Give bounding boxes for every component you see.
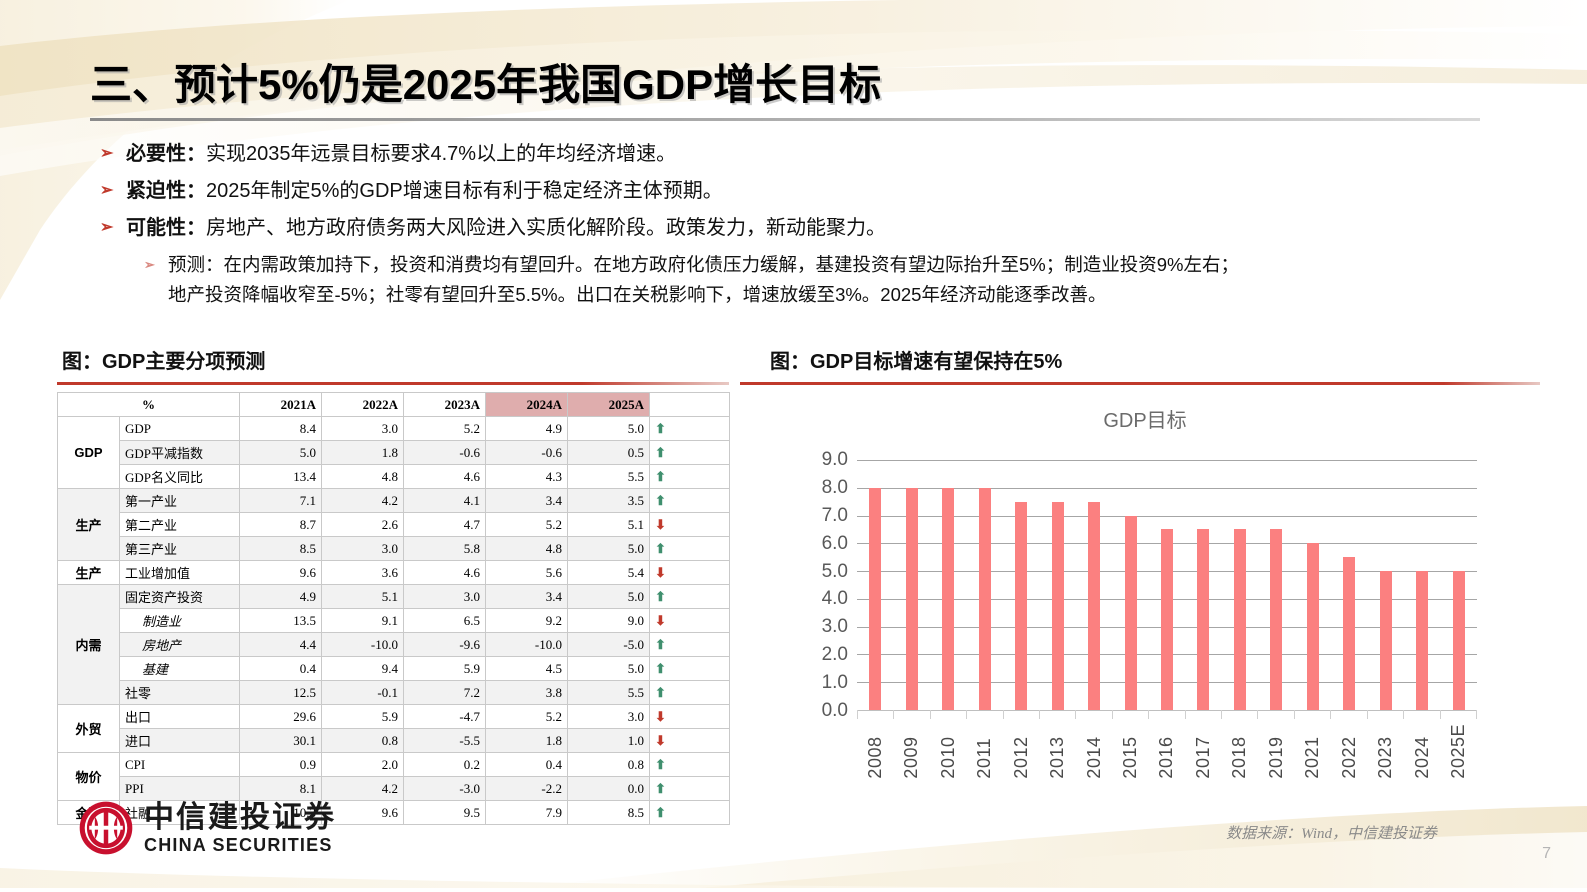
bullet-body: 2025年制定5%的GDP增速目标有利于稳定经济主体预期。 bbox=[206, 180, 723, 202]
chart-x-tick-label: 2010 bbox=[938, 724, 959, 779]
chart-bar-slot bbox=[1331, 460, 1367, 710]
bullet-arrow-icon: ➢ bbox=[100, 140, 126, 168]
chart-x-tick-label: 2013 bbox=[1047, 724, 1068, 779]
chart-bar bbox=[979, 488, 991, 710]
page-number: 7 bbox=[1542, 845, 1551, 863]
table-cell-value: 4.5 bbox=[486, 657, 568, 681]
chart-x-label-slot: 2008 bbox=[857, 724, 893, 779]
table-row-label: 制造业 bbox=[120, 609, 240, 633]
table-cell-value: 12.5 bbox=[240, 681, 322, 705]
table-cell-value: 5.0 bbox=[568, 417, 650, 441]
chart-y-tick-label: 6.0 bbox=[822, 533, 848, 555]
chart-x-label-slot: 2010 bbox=[930, 724, 966, 779]
trend-up-icon: ⬆ bbox=[650, 465, 730, 489]
table-cell-value: 5.1 bbox=[568, 513, 650, 537]
table-cell-value: -5.5 bbox=[404, 729, 486, 753]
chart-bar-slot bbox=[1185, 460, 1221, 710]
table-cell-value: 4.4 bbox=[240, 633, 322, 657]
chart-y-tick-label: 5.0 bbox=[822, 561, 848, 583]
trend-up-icon: ⬆ bbox=[650, 753, 730, 777]
table-header: % 2021A 2022A 2023A 2024A 2025A bbox=[58, 393, 730, 417]
table-group-label: 内需 bbox=[58, 585, 120, 705]
table-cell-value: 0.9 bbox=[240, 753, 322, 777]
table-cell-value: 9.5 bbox=[404, 801, 486, 825]
header-cell-percent: % bbox=[58, 393, 240, 417]
trend-up-icon: ⬆ bbox=[650, 681, 730, 705]
table-cell-value: 5.6 bbox=[486, 561, 568, 585]
chart-x-tick bbox=[1221, 710, 1257, 719]
chart-x-tick bbox=[1003, 710, 1039, 719]
table-cell-value: 5.0 bbox=[240, 441, 322, 465]
trend-down-icon: ⬇ bbox=[650, 513, 730, 537]
table-cell-value: -3.0 bbox=[404, 777, 486, 801]
table-cell-value: 5.2 bbox=[404, 417, 486, 441]
chart-bar bbox=[1161, 529, 1173, 710]
bullet-text: 紧迫性：2025年制定5%的GDP增速目标有利于稳定经济主体预期。 bbox=[126, 177, 723, 205]
table-cell-value: 8.1 bbox=[240, 777, 322, 801]
header-cell-trend bbox=[650, 393, 730, 417]
chart-plot-area: 9.08.07.06.05.04.03.02.01.00.0 bbox=[857, 460, 1477, 710]
table-group-label: 生产 bbox=[58, 561, 120, 585]
table-row-label: GDP bbox=[120, 417, 240, 441]
chart-bar bbox=[1125, 516, 1137, 710]
table-row-label: 第一产业 bbox=[120, 489, 240, 513]
chart-x-tick bbox=[1112, 710, 1148, 719]
table-row-label: 房地产 bbox=[120, 633, 240, 657]
chart-x-tick-label: 2015 bbox=[1120, 724, 1141, 779]
table-cell-value: 4.2 bbox=[322, 489, 404, 513]
table-row-label: 进口 bbox=[120, 729, 240, 753]
chart-x-tick bbox=[893, 710, 929, 719]
chart-x-tick-label: 2019 bbox=[1266, 724, 1287, 779]
table-cell-value: 8.5 bbox=[568, 801, 650, 825]
chart-x-label-slot: 2017 bbox=[1185, 724, 1221, 779]
chart-x-tick-label: 2018 bbox=[1229, 724, 1250, 779]
table-row: GDP名义同比13.44.84.64.35.5⬆ bbox=[58, 465, 730, 489]
header-cell-2022a: 2022A bbox=[322, 393, 404, 417]
trend-up-icon: ⬆ bbox=[650, 537, 730, 561]
table-group-label: GDP bbox=[58, 417, 120, 489]
chart-y-tick-label: 9.0 bbox=[822, 449, 848, 471]
chart-y-tick-label: 7.0 bbox=[822, 505, 848, 527]
table-row: 第二产业8.72.64.75.25.1⬇ bbox=[58, 513, 730, 537]
chart-x-tick bbox=[1294, 710, 1330, 719]
chart-x-label-slot: 2023 bbox=[1368, 724, 1404, 779]
table-row: 进口30.10.8-5.51.81.0⬇ bbox=[58, 729, 730, 753]
table-cell-value: 5.9 bbox=[404, 657, 486, 681]
chart-bar-slot bbox=[1441, 460, 1477, 710]
table-row-label: 第二产业 bbox=[120, 513, 240, 537]
chart-x-tick-label: 2024 bbox=[1412, 724, 1433, 779]
table-row: 内需固定资产投资4.95.13.03.45.0⬆ bbox=[58, 585, 730, 609]
table-cell-value: -0.6 bbox=[486, 441, 568, 465]
table-cell-value: 29.6 bbox=[240, 705, 322, 729]
chart-y-tick-label: 2.0 bbox=[822, 644, 848, 666]
table-row: 社零12.5-0.17.23.85.5⬆ bbox=[58, 681, 730, 705]
chart-x-tick-label: 2008 bbox=[865, 724, 886, 779]
chart-bar bbox=[906, 488, 918, 710]
table-row-label: CPI bbox=[120, 753, 240, 777]
bullet-body: 房地产、地方政府债务两大风险进入实质化解阶段。政策发力，新动能聚力。 bbox=[206, 217, 886, 239]
table-cell-value: 1.8 bbox=[486, 729, 568, 753]
chart-y-tick-label: 0.0 bbox=[822, 700, 848, 722]
source-note: 数据来源：Wind，中信建投证券 bbox=[1226, 822, 1437, 843]
chart-x-tick-label: 2021 bbox=[1302, 724, 1323, 779]
chart-bar-slot bbox=[1076, 460, 1112, 710]
chart-bar bbox=[1015, 502, 1027, 710]
table-cell-value: 0.5 bbox=[568, 441, 650, 465]
chart-x-tick-label: 2025E bbox=[1448, 724, 1469, 779]
table-cell-value: 4.7 bbox=[404, 513, 486, 537]
header-cell-2021a: 2021A bbox=[240, 393, 322, 417]
logo-name-en: CHINA SECURITIES bbox=[144, 836, 336, 854]
table-body: GDPGDP8.43.05.24.95.0⬆GDP平减指数5.01.8-0.6-… bbox=[58, 417, 730, 825]
table-cell-value: 3.0 bbox=[404, 585, 486, 609]
bullet-item: ➢ 可能性：房地产、地方政府债务两大风险进入实质化解阶段。政策发力，新动能聚力。 bbox=[100, 214, 1520, 242]
chart-x-tick-label: 2009 bbox=[901, 724, 922, 779]
table-cell-value: 2.6 bbox=[322, 513, 404, 537]
trend-up-icon: ⬆ bbox=[650, 585, 730, 609]
left-figure-caption: 图：GDP主要分项预测 bbox=[62, 345, 265, 374]
table-cell-value: 9.4 bbox=[322, 657, 404, 681]
table-cell-value: -5.0 bbox=[568, 633, 650, 657]
table-cell-value: 0.8 bbox=[568, 753, 650, 777]
chart-bar bbox=[1197, 529, 1209, 710]
bullet-arrow-icon: ➢ bbox=[100, 177, 126, 205]
table-cell-value: 7.2 bbox=[404, 681, 486, 705]
chart-x-tick bbox=[1148, 710, 1184, 719]
chart-x-label-slot: 2022 bbox=[1331, 724, 1367, 779]
table-cell-value: 6.5 bbox=[404, 609, 486, 633]
table-cell-value: -0.1 bbox=[322, 681, 404, 705]
table-group-label: 外贸 bbox=[58, 705, 120, 753]
table-cell-value: 7.1 bbox=[240, 489, 322, 513]
chart-x-tick-label: 2012 bbox=[1011, 724, 1032, 779]
table-row: 物价CPI0.92.00.20.40.8⬆ bbox=[58, 753, 730, 777]
chart-x-label-slot: 2021 bbox=[1295, 724, 1331, 779]
table-cell-value: 3.5 bbox=[568, 489, 650, 513]
chart-x-tick bbox=[1330, 710, 1366, 719]
right-figure-divider bbox=[740, 382, 1540, 385]
title-block: 三、预计5%仍是2025年我国GDP增长目标 bbox=[90, 62, 1510, 121]
table-cell-value: 0.4 bbox=[486, 753, 568, 777]
trend-up-icon: ⬆ bbox=[650, 777, 730, 801]
chart-bar-slot bbox=[893, 460, 929, 710]
table-row: 基建0.49.45.94.55.0⬆ bbox=[58, 657, 730, 681]
chart-bar bbox=[1270, 529, 1282, 710]
chart-bar-slot bbox=[966, 460, 1002, 710]
table-cell-value: 3.0 bbox=[322, 417, 404, 441]
table-cell-value: 4.9 bbox=[240, 585, 322, 609]
table-cell-value: 5.8 bbox=[404, 537, 486, 561]
chart-x-tick bbox=[1075, 710, 1111, 719]
table-cell-value: 5.2 bbox=[486, 513, 568, 537]
chart-bar bbox=[1088, 502, 1100, 710]
chart-x-tick bbox=[1440, 710, 1477, 719]
table-row: 生产第一产业7.14.24.13.43.5⬆ bbox=[58, 489, 730, 513]
table-group-label: 物价 bbox=[58, 753, 120, 801]
table-cell-value: 3.0 bbox=[322, 537, 404, 561]
table-cell-value: 5.5 bbox=[568, 681, 650, 705]
gdp-forecast-table: % 2021A 2022A 2023A 2024A 2025A GDPGDP8.… bbox=[57, 392, 730, 825]
table-cell-value: 9.6 bbox=[240, 561, 322, 585]
chart-bar-slot bbox=[1295, 460, 1331, 710]
table-row: GDPGDP8.43.05.24.95.0⬆ bbox=[58, 417, 730, 441]
trend-up-icon: ⬆ bbox=[650, 417, 730, 441]
chart-x-tick bbox=[1257, 710, 1293, 719]
sub-bullet-item: ➢ 预测：在内需政策加持下，投资和消费均有望回升。在地方政府化债压力缓解，基建投… bbox=[144, 251, 1520, 279]
table-cell-value: 2.0 bbox=[322, 753, 404, 777]
chart-bar bbox=[1052, 502, 1064, 710]
table-row-label: 第三产业 bbox=[120, 537, 240, 561]
table-cell-value: 5.0 bbox=[568, 585, 650, 609]
trend-up-icon: ⬆ bbox=[650, 657, 730, 681]
bullet-lead: 可能性： bbox=[126, 217, 206, 239]
company-logo: 中信建投证券 CHINA SECURITIES bbox=[78, 800, 336, 856]
table-cell-value: -0.6 bbox=[404, 441, 486, 465]
chart-bar-slot bbox=[1258, 460, 1294, 710]
chart-y-tick-label: 3.0 bbox=[822, 616, 848, 638]
header-cell-2024a: 2024A bbox=[486, 393, 568, 417]
chart-bar-slot bbox=[1003, 460, 1039, 710]
trend-down-icon: ⬇ bbox=[650, 729, 730, 753]
chart-bar bbox=[1380, 571, 1392, 710]
chart-bar-slot bbox=[1149, 460, 1185, 710]
table-row: 外贸出口29.65.9-4.75.23.0⬇ bbox=[58, 705, 730, 729]
chart-x-tick bbox=[1403, 710, 1439, 719]
chart-y-tick-label: 4.0 bbox=[822, 588, 848, 610]
table-cell-value: 3.8 bbox=[486, 681, 568, 705]
chart-bar-slot bbox=[857, 460, 893, 710]
table-cell-value: 5.1 bbox=[322, 585, 404, 609]
table-row: 房地产4.4-10.0-9.6-10.0-5.0⬆ bbox=[58, 633, 730, 657]
table-cell-value: 5.0 bbox=[568, 657, 650, 681]
gdp-target-chart: GDP目标 9.08.07.06.05.04.03.02.01.00.0 200… bbox=[745, 392, 1545, 792]
chart-bar bbox=[942, 488, 954, 710]
table-cell-value: 4.1 bbox=[404, 489, 486, 513]
table-cell-value: -2.2 bbox=[486, 777, 568, 801]
forecast-table-wrapper: % 2021A 2022A 2023A 2024A 2025A GDPGDP8.… bbox=[57, 392, 729, 825]
table-cell-value: -4.7 bbox=[404, 705, 486, 729]
bullet-lead: 必要性： bbox=[126, 143, 206, 165]
table-cell-value: 4.6 bbox=[404, 561, 486, 585]
chart-bar-slot bbox=[930, 460, 966, 710]
trend-up-icon: ⬆ bbox=[650, 489, 730, 513]
chart-x-label-slot: 2018 bbox=[1222, 724, 1258, 779]
chart-x-tick-label: 2014 bbox=[1084, 724, 1105, 779]
chart-bar bbox=[1416, 571, 1428, 710]
table-cell-value: 4.6 bbox=[404, 465, 486, 489]
table-cell-value: 8.5 bbox=[240, 537, 322, 561]
table-row-label: GDP平减指数 bbox=[120, 441, 240, 465]
trend-down-icon: ⬇ bbox=[650, 561, 730, 585]
table-row: GDP平减指数5.01.8-0.6-0.60.5⬆ bbox=[58, 441, 730, 465]
chart-x-tick bbox=[1039, 710, 1075, 719]
left-figure-divider bbox=[57, 382, 729, 385]
sub-bullet-line1: 在内需政策加持下，投资和消费均有望回升。在地方政府化债压力缓解，基建投资有望边际… bbox=[224, 254, 1239, 275]
bullet-text: 必要性：实现2035年远景目标要求4.7%以上的年均经济增速。 bbox=[126, 140, 676, 168]
chart-x-tick-label: 2022 bbox=[1339, 724, 1360, 779]
table-cell-value: 9.1 bbox=[322, 609, 404, 633]
right-figure-caption: 图：GDP目标增速有望保持在5% bbox=[770, 345, 1062, 374]
trend-down-icon: ⬇ bbox=[650, 705, 730, 729]
table-cell-value: 0.4 bbox=[240, 657, 322, 681]
table-cell-value: 4.8 bbox=[486, 537, 568, 561]
chart-bar-slot bbox=[1404, 460, 1440, 710]
chart-x-label-slot: 2019 bbox=[1258, 724, 1294, 779]
table-cell-value: 9.2 bbox=[486, 609, 568, 633]
table-group-label: 生产 bbox=[58, 489, 120, 561]
chart-x-label-slot: 2013 bbox=[1039, 724, 1075, 779]
table-cell-value: 1.8 bbox=[322, 441, 404, 465]
table-cell-value: -10.0 bbox=[322, 633, 404, 657]
chart-bar bbox=[1307, 543, 1319, 710]
chart-x-tick-label: 2017 bbox=[1193, 724, 1214, 779]
table-cell-value: 0.0 bbox=[568, 777, 650, 801]
chart-x-tick-label: 2011 bbox=[974, 724, 995, 779]
table-row-label: 固定资产投资 bbox=[120, 585, 240, 609]
chart-x-tick bbox=[966, 710, 1002, 719]
chart-bar bbox=[1234, 529, 1246, 710]
table-cell-value: 4.2 bbox=[322, 777, 404, 801]
table-cell-value: 9.0 bbox=[568, 609, 650, 633]
chart-y-tick-label: 8.0 bbox=[822, 477, 848, 499]
chart-x-tick-label: 2023 bbox=[1375, 724, 1396, 779]
table-row-label: 基建 bbox=[120, 657, 240, 681]
bullet-text: 可能性：房地产、地方政府债务两大风险进入实质化解阶段。政策发力，新动能聚力。 bbox=[126, 214, 886, 242]
table-cell-value: 5.0 bbox=[568, 537, 650, 561]
table-cell-value: 5.9 bbox=[322, 705, 404, 729]
table-cell-value: 3.0 bbox=[568, 705, 650, 729]
chart-bar bbox=[1343, 557, 1355, 710]
trend-up-icon: ⬆ bbox=[650, 633, 730, 657]
table-row-label: 社零 bbox=[120, 681, 240, 705]
chart-x-tick bbox=[1185, 710, 1221, 719]
logo-text: 中信建投证券 CHINA SECURITIES bbox=[144, 803, 336, 854]
sub-bullet-line2: 地产投资降幅收窄至-5%；社零有望回升至5.5%。出口在关税影响下，增速放缓至3… bbox=[168, 281, 1520, 308]
title-divider bbox=[90, 118, 1480, 121]
table-cell-value: 4.8 bbox=[322, 465, 404, 489]
table-cell-value: 4.3 bbox=[486, 465, 568, 489]
table-cell-value: 0.8 bbox=[322, 729, 404, 753]
chart-title: GDP目标 bbox=[745, 404, 1545, 433]
table-row-label: PPI bbox=[120, 777, 240, 801]
chart-bars bbox=[857, 460, 1477, 710]
table-cell-value: 7.9 bbox=[486, 801, 568, 825]
page-title: 三、预计5%仍是2025年我国GDP增长目标 bbox=[90, 62, 1510, 108]
chart-bar-slot bbox=[1039, 460, 1075, 710]
table-row-label: 出口 bbox=[120, 705, 240, 729]
chart-bar bbox=[1453, 571, 1465, 710]
table-cell-value: 5.5 bbox=[568, 465, 650, 489]
header-cell-2023a: 2023A bbox=[404, 393, 486, 417]
trend-up-icon: ⬆ bbox=[650, 441, 730, 465]
chart-x-label-slot: 2014 bbox=[1076, 724, 1112, 779]
sub-bullet-text: 预测：在内需政策加持下，投资和消费均有望回升。在地方政府化债压力缓解，基建投资有… bbox=[168, 251, 1239, 278]
table-cell-value: 3.4 bbox=[486, 585, 568, 609]
chart-x-tick bbox=[857, 710, 893, 719]
sub-bullet-lead: 预测： bbox=[168, 254, 224, 275]
table-cell-value: 5.2 bbox=[486, 705, 568, 729]
chart-x-label-slot: 2011 bbox=[966, 724, 1002, 779]
bullet-body: 实现2035年远景目标要求4.7%以上的年均经济增速。 bbox=[206, 143, 676, 165]
table-cell-value: 3.6 bbox=[322, 561, 404, 585]
chart-x-ticks bbox=[857, 710, 1477, 720]
chart-bar-slot bbox=[1112, 460, 1148, 710]
bullet-arrow-icon: ➢ bbox=[100, 214, 126, 242]
chart-x-tick bbox=[1367, 710, 1403, 719]
table-cell-value: 13.5 bbox=[240, 609, 322, 633]
slide-root: 三、预计5%仍是2025年我国GDP增长目标 ➢ 必要性：实现2035年远景目标… bbox=[0, 0, 1587, 892]
table-cell-value: -10.0 bbox=[486, 633, 568, 657]
citic-logo-icon bbox=[78, 800, 134, 856]
table-cell-value: 4.9 bbox=[486, 417, 568, 441]
chart-bar bbox=[869, 488, 881, 710]
table-cell-value: -9.6 bbox=[404, 633, 486, 657]
chart-bar-slot bbox=[1368, 460, 1404, 710]
bullet-lead: 紧迫性： bbox=[126, 180, 206, 202]
header-cell-2025a: 2025A bbox=[568, 393, 650, 417]
bullet-item: ➢ 紧迫性：2025年制定5%的GDP增速目标有利于稳定经济主体预期。 bbox=[100, 177, 1520, 205]
sub-bullet-arrow-icon: ➢ bbox=[144, 251, 168, 279]
table-cell-value: 8.4 bbox=[240, 417, 322, 441]
chart-x-label-slot: 2015 bbox=[1112, 724, 1148, 779]
table-cell-value: 13.4 bbox=[240, 465, 322, 489]
table-header-row: % 2021A 2022A 2023A 2024A 2025A bbox=[58, 393, 730, 417]
chart-x-label-slot: 2012 bbox=[1003, 724, 1039, 779]
table-row: 制造业13.59.16.59.29.0⬇ bbox=[58, 609, 730, 633]
table-row: 第三产业8.53.05.84.85.0⬆ bbox=[58, 537, 730, 561]
table-row-label: GDP名义同比 bbox=[120, 465, 240, 489]
table-cell-value: 8.7 bbox=[240, 513, 322, 537]
trend-down-icon: ⬇ bbox=[650, 609, 730, 633]
logo-name-cn: 中信建投证券 bbox=[144, 803, 336, 833]
table-cell-value: 1.0 bbox=[568, 729, 650, 753]
trend-up-icon: ⬆ bbox=[650, 801, 730, 825]
table-cell-value: 5.4 bbox=[568, 561, 650, 585]
chart-bar-slot bbox=[1222, 460, 1258, 710]
chart-x-label-slot: 2025E bbox=[1441, 724, 1477, 779]
chart-y-tick-label: 1.0 bbox=[822, 672, 848, 694]
chart-x-tick bbox=[930, 710, 966, 719]
table-row: 生产工业增加值9.63.64.65.65.4⬇ bbox=[58, 561, 730, 585]
bullet-item: ➢ 必要性：实现2035年远景目标要求4.7%以上的年均经济增速。 bbox=[100, 140, 1520, 168]
table-cell-value: 3.4 bbox=[486, 489, 568, 513]
bullet-list: ➢ 必要性：实现2035年远景目标要求4.7%以上的年均经济增速。 ➢ 紧迫性：… bbox=[100, 140, 1520, 308]
chart-x-label-slot: 2016 bbox=[1149, 724, 1185, 779]
chart-x-labels: 2008200920102011201220132014201520162017… bbox=[857, 724, 1477, 779]
chart-x-label-slot: 2024 bbox=[1404, 724, 1440, 779]
table-cell-value: 30.1 bbox=[240, 729, 322, 753]
chart-x-label-slot: 2009 bbox=[893, 724, 929, 779]
table-row-label: 工业增加值 bbox=[120, 561, 240, 585]
table-cell-value: 0.2 bbox=[404, 753, 486, 777]
table-row: PPI8.14.2-3.0-2.20.0⬆ bbox=[58, 777, 730, 801]
chart-x-tick-label: 2016 bbox=[1156, 724, 1177, 779]
